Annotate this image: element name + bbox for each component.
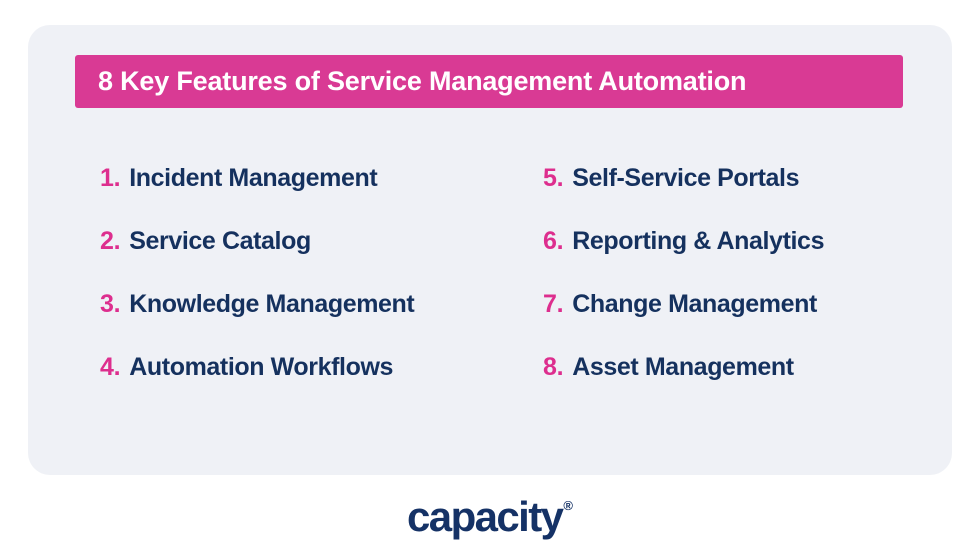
logo-wordmark: capacity [407, 496, 562, 538]
capacity-logo: capacity ® [0, 494, 980, 539]
list-item-number: 7. [543, 292, 563, 317]
list-item: 1. Incident Management [100, 147, 414, 210]
list-item: 7. Change Management [543, 273, 824, 336]
list-item-number: 8. [543, 355, 563, 380]
title-banner: 8 Key Features of Service Management Aut… [75, 55, 903, 108]
list-item-label: Service Catalog [129, 229, 311, 254]
feature-card: 8 Key Features of Service Management Aut… [28, 25, 952, 475]
list-item-label: Reporting & Analytics [572, 229, 824, 254]
list-item-number: 2. [100, 229, 120, 254]
list-item-label: Incident Management [129, 166, 377, 191]
list-item-label: Self-Service Portals [572, 166, 799, 191]
infographic-canvas: 8 Key Features of Service Management Aut… [0, 0, 980, 551]
list-item-number: 3. [100, 292, 120, 317]
list-item: 6. Reporting & Analytics [543, 210, 824, 273]
list-item-label: Automation Workflows [129, 355, 393, 380]
list-item-number: 6. [543, 229, 563, 254]
list-item-label: Change Management [572, 292, 817, 317]
list-item-label: Knowledge Management [129, 292, 414, 317]
list-item: 3. Knowledge Management [100, 273, 414, 336]
list-item-number: 4. [100, 355, 120, 380]
list-item: 5. Self-Service Portals [543, 147, 824, 210]
list-item: 8. Asset Management [543, 336, 824, 399]
registered-trademark-icon: ® [563, 499, 573, 512]
feature-column-right: 5. Self-Service Portals 6. Reporting & A… [543, 147, 824, 399]
feature-column-left: 1. Incident Management 2. Service Catalo… [100, 147, 414, 399]
list-item: 2. Service Catalog [100, 210, 414, 273]
list-item-number: 1. [100, 166, 120, 191]
list-item: 4. Automation Workflows [100, 336, 414, 399]
page-title: 8 Key Features of Service Management Aut… [98, 68, 746, 95]
list-item-label: Asset Management [572, 355, 793, 380]
list-item-number: 5. [543, 166, 563, 191]
